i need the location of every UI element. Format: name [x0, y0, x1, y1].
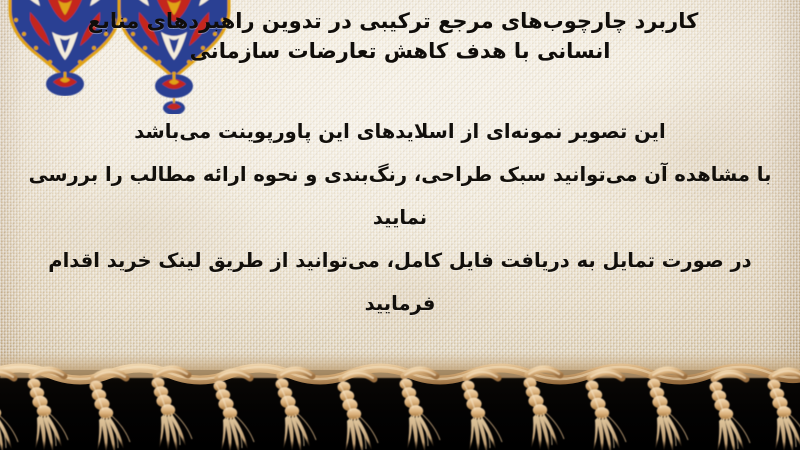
title-line-1: کاربرد چارچوب‌های مرجع ترکیبی در تدوین ر… — [14, 6, 786, 36]
slide-canvas: کاربرد چارچوب‌های مرجع ترکیبی در تدوین ر… — [0, 0, 800, 450]
body-line-3: در صورت تمایل به دریافت فایل کامل، می‌تو… — [18, 239, 782, 325]
title-line-2: انسانی با هدف کاهش تعارضات سازمانی — [14, 36, 786, 66]
carpet-knotted-fringe — [0, 352, 800, 450]
slide-body-text: این تصویر نمونه‌ای از اسلایدهای این پاور… — [0, 110, 800, 325]
page-title: کاربرد چارچوب‌های مرجع ترکیبی در تدوین ر… — [0, 6, 800, 66]
slide-text-layer: کاربرد چارچوب‌های مرجع ترکیبی در تدوین ر… — [0, 0, 800, 378]
body-line-1: این تصویر نمونه‌ای از اسلایدهای این پاور… — [18, 110, 782, 153]
body-line-2: با مشاهده آن می‌توانید سبک طراحی، رنگ‌بن… — [18, 153, 782, 239]
